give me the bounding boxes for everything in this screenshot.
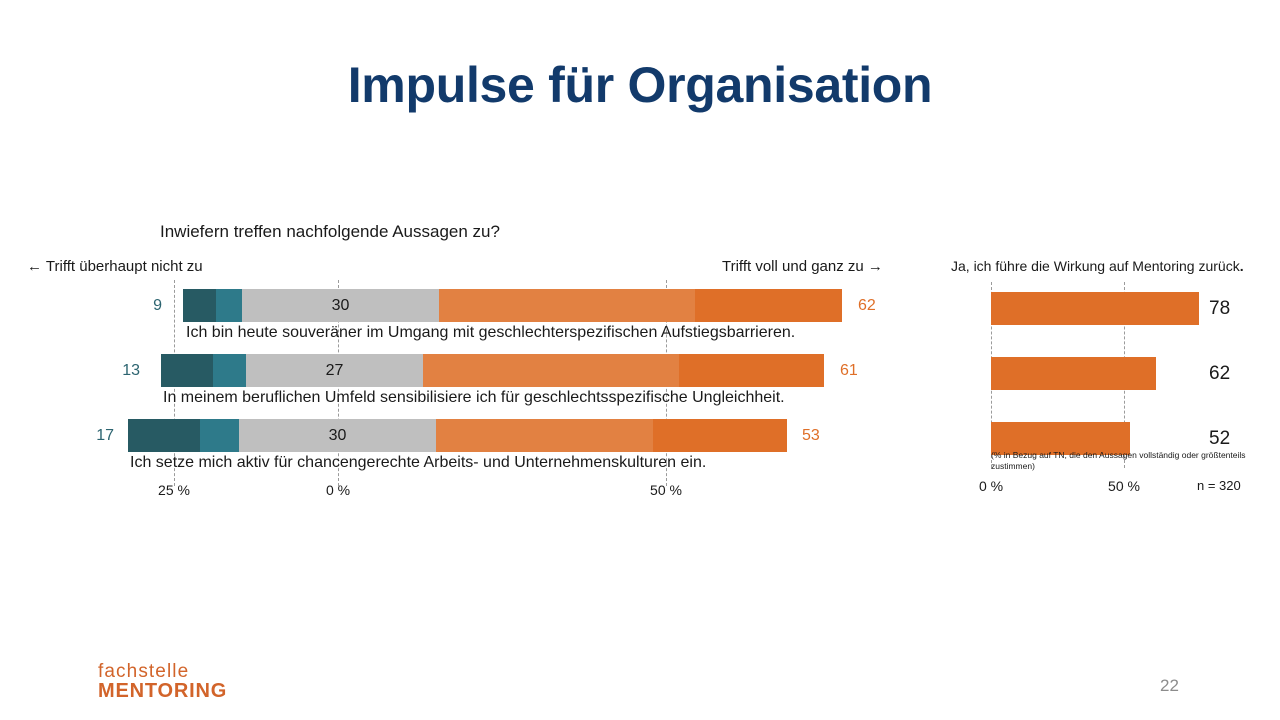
segment-strongly-agree (653, 419, 787, 452)
segment-strongly-agree (679, 354, 824, 387)
table-row: 9 30 62 Ich bin heute souveräner im Umga… (0, 286, 930, 351)
segment-strongly-disagree (183, 289, 216, 322)
segment-strongly-disagree (128, 419, 200, 452)
segment-disagree (200, 419, 239, 452)
axis-tick-label: 0 % (326, 482, 350, 498)
row-positive-total: 62 (858, 289, 908, 322)
fachstelle-mentoring-logo: fachstelle MENTORING (98, 662, 227, 701)
stacked-bar: 30 (183, 289, 842, 322)
bar-value-62 (991, 357, 1156, 390)
row-neutral-total: 27 (246, 354, 423, 387)
segment-neutral: 30 (242, 289, 439, 322)
row-statement: Ich bin heute souveräner im Umgang mit g… (186, 324, 795, 342)
row-statement: Ich setze mich aktiv für chancengerechte… (130, 454, 706, 472)
right-chart-footnote: (% in Bezug auf TN, die den Aussagen vol… (991, 450, 1249, 471)
segment-agree (436, 419, 653, 452)
axis-tick-label: 50 % (650, 482, 682, 498)
chart-question-label: Inwiefern treffen nachfolgende Aussagen … (160, 222, 500, 242)
axis-tick-label: 25 % (158, 482, 190, 498)
page-title: Impulse für Organisation (0, 58, 1280, 113)
row-positive-total: 53 (802, 419, 852, 452)
row-negative-total: 13 (96, 354, 140, 387)
left-plot-area: 9 30 62 Ich bin heute souveräner im Umga… (0, 280, 930, 495)
page-number: 22 (1160, 676, 1179, 696)
table-row: 17 30 53 Ich setze mich aktiv für chance… (0, 416, 930, 481)
segment-agree (423, 354, 679, 387)
stacked-bar: 30 (128, 419, 787, 452)
row-neutral-total: 30 (242, 289, 439, 322)
row-statement: In meinem beruflichen Umfeld sensibilisi… (163, 389, 785, 407)
right-chart-title-main: Ja, ich führe die Wirkung auf Mentoring … (951, 258, 1240, 274)
scale-anchor-low: ← Trifft überhaupt nicht zu (27, 258, 203, 275)
bar-label-78: 78 (1209, 292, 1230, 325)
segment-neutral: 27 (246, 354, 423, 387)
segment-strongly-disagree (161, 354, 213, 387)
row-negative-total: 9 (118, 289, 162, 322)
mentoring-attribution-chart: Ja, ich führe die Wirkung auf Mentoring … (945, 258, 1265, 503)
bar-value-78 (991, 292, 1199, 325)
logo-line-2: MENTORING (98, 681, 227, 701)
axis-tick-label: 50 % (1108, 478, 1140, 494)
scale-anchor-high: Trifft voll und ganz zu → (722, 258, 883, 275)
table-row: 13 27 61 In meinem beruflichen Umfeld se… (0, 351, 930, 416)
stacked-bar: 27 (161, 354, 824, 387)
row-neutral-total: 30 (239, 419, 436, 452)
diverging-bar-chart: Inwiefern treffen nachfolgende Aussagen … (0, 222, 930, 497)
row-negative-total: 17 (70, 419, 114, 452)
right-chart-title: Ja, ich führe die Wirkung auf Mentoring … (951, 258, 1244, 274)
sample-size-label: n = 320 (1197, 478, 1241, 493)
segment-neutral: 30 (239, 419, 436, 452)
row-positive-total: 61 (840, 354, 890, 387)
axis-tick-label: 0 % (979, 478, 1003, 494)
segment-disagree (216, 289, 242, 322)
segment-agree (439, 289, 695, 322)
segment-strongly-agree (695, 289, 842, 322)
right-plot-area: 78 62 52 (945, 282, 1265, 472)
segment-disagree (213, 354, 246, 387)
logo-line-1: fachstelle (98, 662, 227, 681)
right-chart-title-period: . (1240, 258, 1244, 274)
bar-label-62: 62 (1209, 357, 1230, 390)
